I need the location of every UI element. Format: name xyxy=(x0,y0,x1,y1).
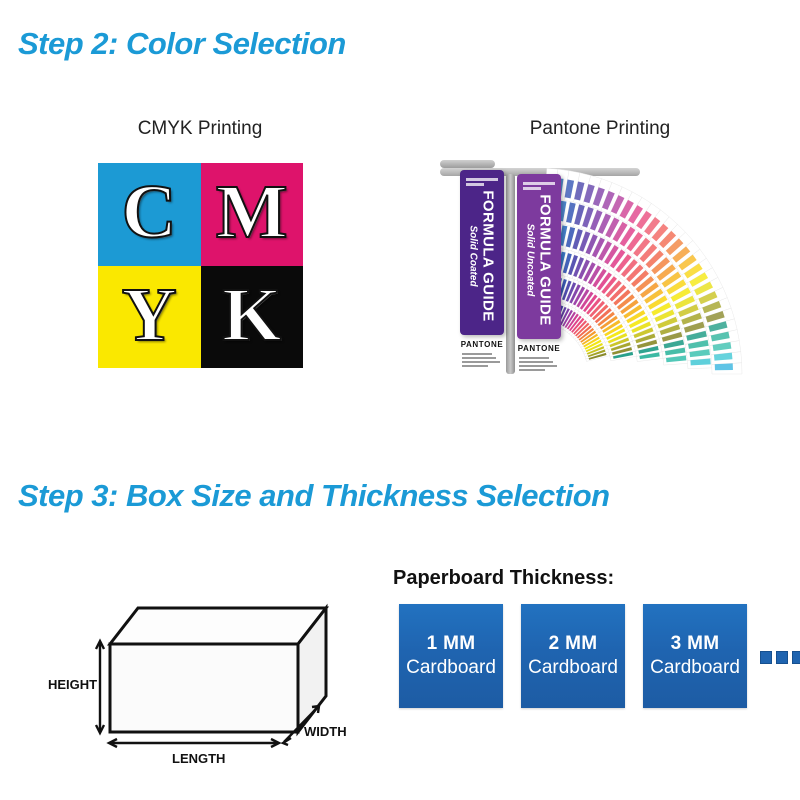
box-top-face xyxy=(110,608,326,644)
guide-fineprint xyxy=(517,357,561,371)
guide-title-uncoated-sub: Solid Uncoated xyxy=(525,194,536,325)
thickness-value-3mm: 3 MM xyxy=(671,633,720,655)
pantone-caption: Pantone Printing xyxy=(500,118,700,140)
height-arrow xyxy=(96,641,104,733)
guide-spine xyxy=(506,174,515,374)
thickness-value-2mm: 2 MM xyxy=(549,633,598,655)
cmyk-color-grid: C M Y K xyxy=(98,163,303,368)
guide-title-coated-sub: Solid Coated xyxy=(468,190,479,321)
guide-fineprint xyxy=(460,353,504,367)
thickness-material-2mm: Cardboard xyxy=(528,657,618,679)
cmyk-letter-k: K xyxy=(222,277,281,353)
guide-title-coated-main: FORMULA GUIDE xyxy=(480,190,497,321)
step-3-heading: Step 3: Box Size and Thickness Selection xyxy=(18,478,610,514)
width-label: WIDTH xyxy=(304,724,347,739)
box-dimension-diagram: HEIGHT LENGTH WIDTH xyxy=(30,580,370,770)
box-diagram-svg: HEIGHT LENGTH WIDTH xyxy=(30,580,370,770)
cmyk-letter-c: C xyxy=(122,174,177,250)
cmyk-cell-black: K xyxy=(201,266,304,369)
pantone-wordmark: PANTONE xyxy=(517,344,561,353)
cmyk-cell-magenta: M xyxy=(201,163,304,266)
cmyk-cell-yellow: Y xyxy=(98,266,201,369)
ellipsis-dot xyxy=(792,651,800,664)
pantone-fan-deck-image: FORMULA GUIDE Solid Coated FORMULA GUIDE… xyxy=(440,160,760,395)
infographic-page: Step 2: Color Selection CMYK Printing Pa… xyxy=(0,0,800,800)
thickness-option-1mm[interactable]: 1 MM Cardboard xyxy=(399,604,503,708)
length-label: LENGTH xyxy=(172,751,225,766)
height-label: HEIGHT xyxy=(48,677,97,692)
length-arrow xyxy=(109,739,279,747)
guide-foot-coated: PANTONE xyxy=(460,340,504,367)
paperboard-thickness-title: Paperboard Thickness: xyxy=(393,567,614,590)
thickness-more-indicator xyxy=(760,651,800,664)
formula-guide-uncoated-cover: FORMULA GUIDE Solid Uncoated xyxy=(517,174,561,339)
thickness-value-1mm: 1 MM xyxy=(427,633,476,655)
cmyk-letter-m: M xyxy=(216,174,288,250)
thickness-option-2mm[interactable]: 2 MM Cardboard xyxy=(521,604,625,708)
formula-guide-coated-cover: FORMULA GUIDE Solid Coated xyxy=(460,170,504,335)
cmyk-caption: CMYK Printing xyxy=(100,118,300,140)
guide-top-rule xyxy=(466,178,498,190)
guide-title-uncoated: FORMULA GUIDE Solid Uncoated xyxy=(525,194,554,325)
guide-foot-uncoated: PANTONE xyxy=(517,344,561,371)
guide-title-coated: FORMULA GUIDE Solid Coated xyxy=(468,190,497,321)
pantone-wordmark: PANTONE xyxy=(460,340,504,349)
ellipsis-dot xyxy=(760,651,772,664)
guide-top-rule xyxy=(523,182,555,194)
guide-title-uncoated-main: FORMULA GUIDE xyxy=(537,194,554,325)
cmyk-cell-cyan: C xyxy=(98,163,201,266)
thickness-option-3mm[interactable]: 3 MM Cardboard xyxy=(643,604,747,708)
cmyk-letter-y: Y xyxy=(122,277,177,353)
step-2-heading: Step 2: Color Selection xyxy=(18,26,346,62)
box-front-face xyxy=(110,644,298,732)
thickness-material-1mm: Cardboard xyxy=(406,657,496,679)
thickness-material-3mm: Cardboard xyxy=(650,657,740,679)
ellipsis-dot xyxy=(776,651,788,664)
